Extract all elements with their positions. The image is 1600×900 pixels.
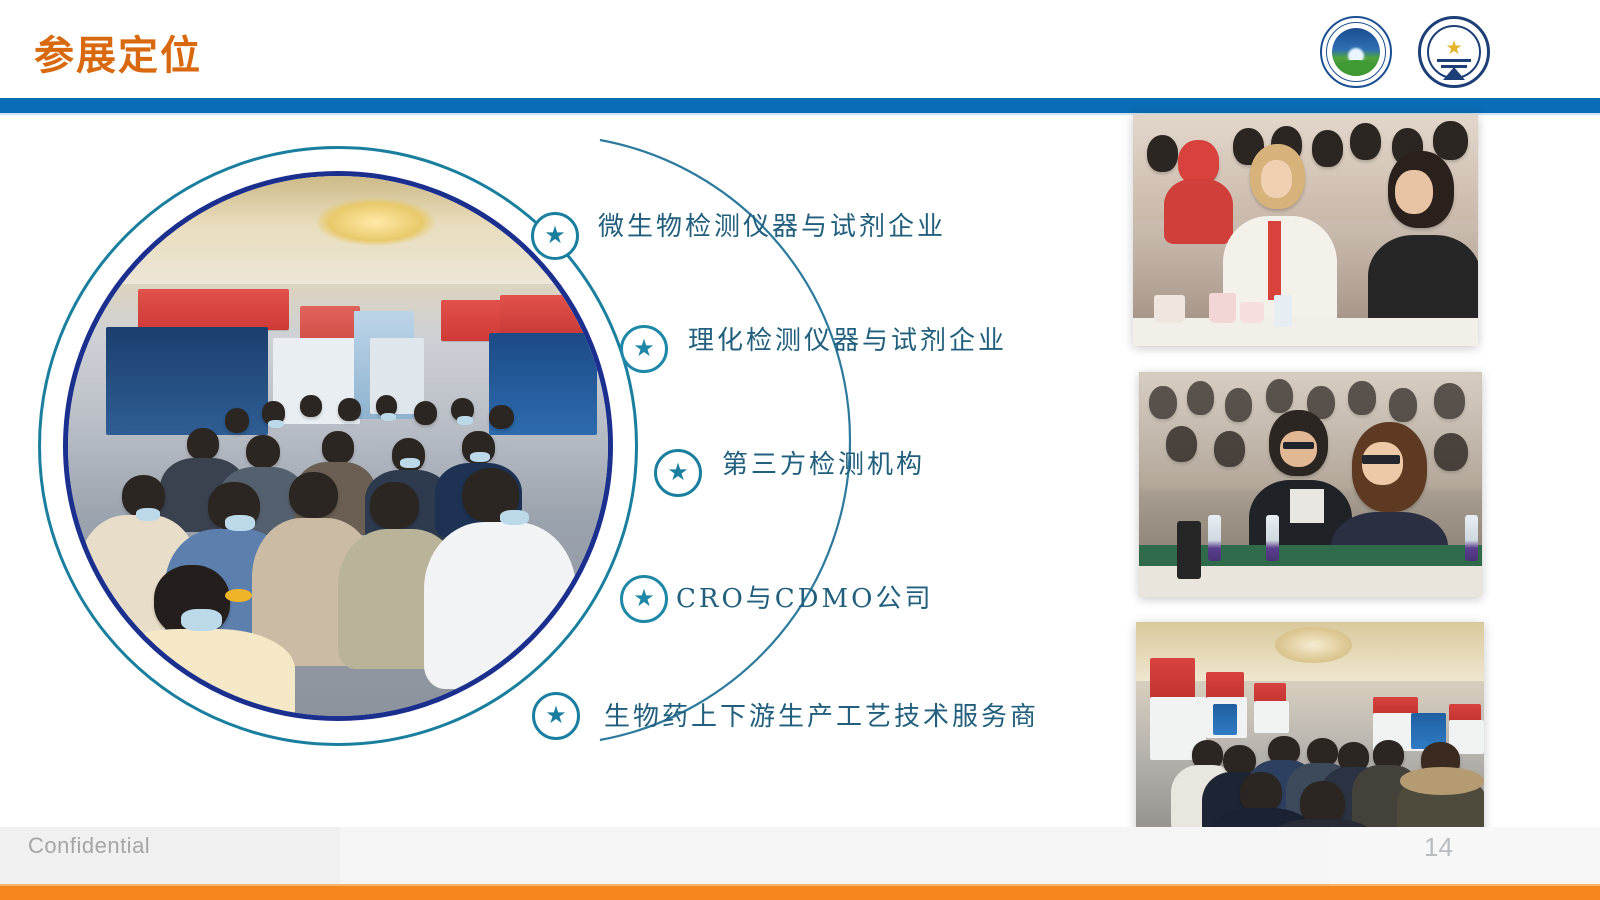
item-label-4: CRO与CDMO公司 xyxy=(676,578,933,615)
booth-banner xyxy=(500,295,592,336)
star-icon: ★ xyxy=(633,337,655,361)
footer-accent-bar xyxy=(0,884,1600,900)
hill-shape xyxy=(1332,60,1380,76)
bullet-marker-1[interactable]: ★ xyxy=(531,212,579,260)
star-icon: ★ xyxy=(544,224,566,248)
institute-logo-icon xyxy=(1320,16,1392,88)
lecture-scene xyxy=(1139,372,1482,597)
slide: 参展定位 ★ xyxy=(0,0,1600,900)
item-label-1: 微生物检测仪器与试剂企业 xyxy=(598,206,946,243)
star-icon: ★ xyxy=(1445,39,1462,58)
page-title: 参展定位 xyxy=(34,36,202,76)
emblem-chevron xyxy=(1443,67,1465,80)
footer-band xyxy=(0,827,1600,884)
header-rule xyxy=(0,98,1600,113)
table xyxy=(1133,318,1478,346)
footer-accent-highlight xyxy=(0,884,1600,886)
circle-photo-frame xyxy=(63,171,613,721)
page-number: 14 xyxy=(1424,832,1453,863)
expo-crowd-photo xyxy=(68,176,608,716)
logo-group: ★ xyxy=(1320,16,1490,88)
photo-lecture-audience xyxy=(1139,372,1482,597)
star-icon: ★ xyxy=(545,704,567,728)
item-label-5: 生物药上下游生产工艺技术服务商 xyxy=(604,696,1039,733)
expo-scene xyxy=(1136,622,1484,849)
bullet-marker-5[interactable]: ★ xyxy=(532,692,580,740)
star-icon: ★ xyxy=(667,461,689,485)
star-icon: ★ xyxy=(633,587,655,611)
photo-conference-audience xyxy=(1133,114,1478,346)
booth-banner xyxy=(138,289,289,330)
item-label-3: 第三方检测机构 xyxy=(722,444,925,481)
footer-segment xyxy=(340,827,1330,884)
academy-logo-icon: ★ xyxy=(1418,16,1490,88)
confidential-label: Confidential xyxy=(28,833,150,859)
emblem-bar xyxy=(1437,59,1471,62)
photo-expo-hall xyxy=(1136,622,1484,849)
bullet-marker-2[interactable]: ★ xyxy=(620,325,668,373)
bullet-marker-3[interactable]: ★ xyxy=(654,449,702,497)
hall-scene xyxy=(68,176,608,716)
bullet-marker-4[interactable]: ★ xyxy=(620,575,668,623)
footer-segment xyxy=(1330,827,1600,884)
conference-scene xyxy=(1133,114,1478,346)
crowd-group xyxy=(68,381,608,716)
logo-disc xyxy=(1332,28,1380,76)
chandelier-light xyxy=(316,198,435,247)
ceiling-medallion xyxy=(1275,627,1352,663)
item-label-2: 理化检测仪器与试剂企业 xyxy=(688,320,1007,357)
